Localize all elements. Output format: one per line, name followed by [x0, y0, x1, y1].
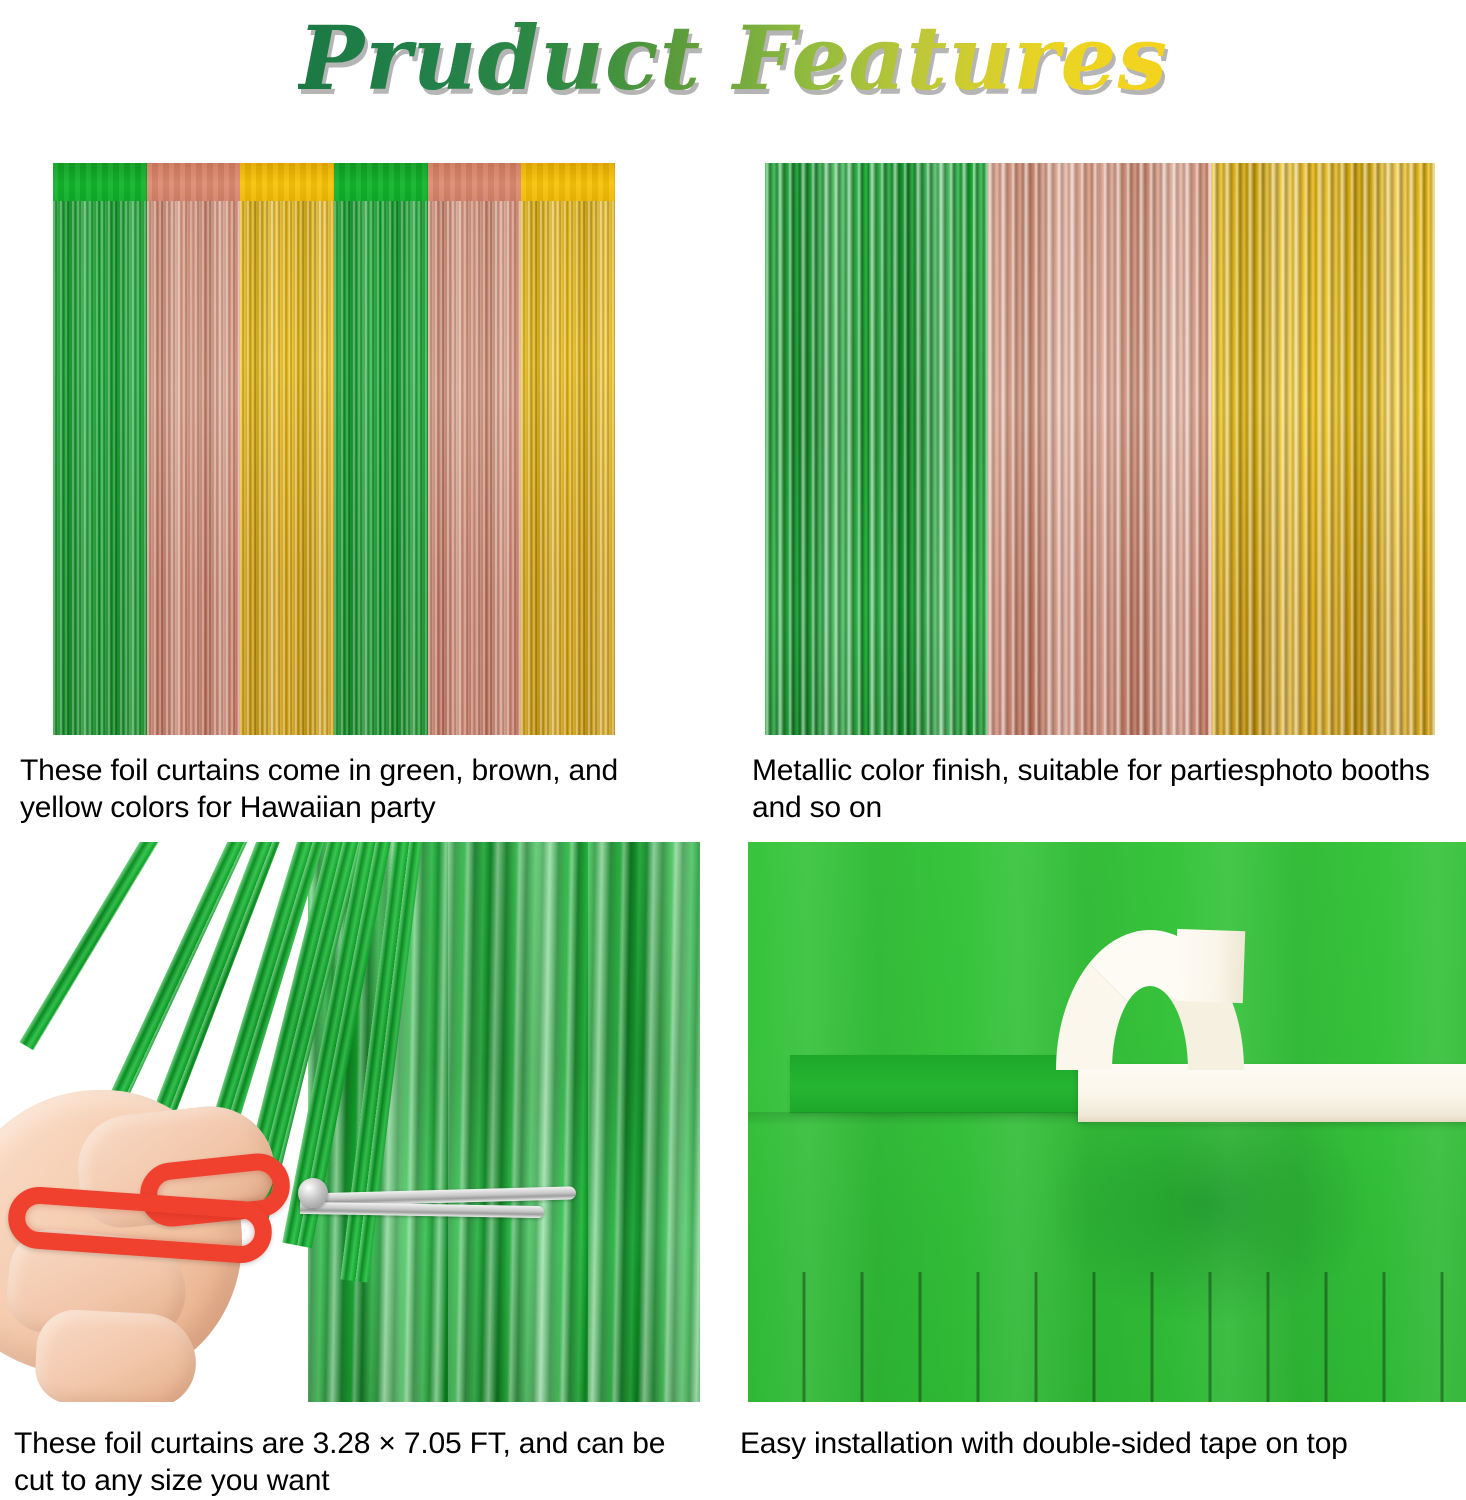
fringe-strands — [147, 163, 241, 735]
feature-image-colors — [53, 163, 615, 735]
fringe-strands — [53, 163, 147, 735]
curtain-band-green — [765, 163, 988, 735]
scissors-pivot-screw — [298, 1178, 328, 1208]
curtain-header-band — [240, 163, 334, 201]
feature-caption-cuttable-size: These foil curtains are 3.28 × 7.05 FT, … — [14, 1425, 674, 1499]
fringe-strands — [988, 163, 1211, 735]
middle-finger — [34, 1308, 199, 1402]
fringe-cut-lines — [748, 1272, 1466, 1402]
foil-curtain-striped — [53, 163, 615, 735]
fringe-strands — [240, 163, 334, 735]
feature-caption-easy-install: Easy installation with double-sided tape… — [740, 1425, 1456, 1462]
curtain-band-rose-gold-1 — [147, 163, 241, 735]
cutting-scene — [0, 842, 700, 1402]
curtain-band-yellow-2 — [521, 163, 615, 735]
fringe-strands — [334, 163, 428, 735]
curtain-band-green-1 — [53, 163, 147, 735]
curtain-header-band — [334, 163, 428, 201]
tape-installation-scene — [748, 842, 1466, 1402]
fringe-strands — [428, 163, 522, 735]
feature-image-metallic-finish — [765, 163, 1435, 735]
curtain-band-yellow — [1212, 163, 1435, 735]
foil-curtain-closeup — [765, 163, 1435, 735]
fringe-strands — [765, 163, 988, 735]
feature-caption-metallic-finish: Metallic color finish, suitable for part… — [752, 752, 1452, 826]
curtain-header-band — [428, 163, 522, 201]
curtain-header-band — [53, 163, 147, 201]
curtain-band-rose-gold-2 — [428, 163, 522, 735]
foil-streamer — [20, 842, 162, 1050]
feature-image-easy-install — [748, 842, 1466, 1402]
double-sided-tape-strip — [1078, 1064, 1466, 1122]
curtain-header-band — [521, 163, 615, 201]
tape-free-end — [1175, 929, 1245, 1003]
folded-green-strip — [790, 1055, 1090, 1113]
fold-shadow-line — [748, 1112, 1088, 1124]
feature-image-cuttable-size — [0, 842, 700, 1402]
curtain-header-band — [147, 163, 241, 201]
curtain-band-yellow-1 — [240, 163, 334, 735]
fringe-strands — [521, 163, 615, 735]
feature-caption-colors: These foil curtains come in green, brown… — [20, 752, 680, 826]
page-title-container: Pruduct Features — [0, 2, 1466, 120]
page-title: Pruduct Features — [298, 2, 1168, 114]
curtain-band-rose-gold — [988, 163, 1211, 735]
fringe-strands — [1212, 163, 1435, 735]
curtain-band-green-2 — [334, 163, 428, 735]
product-features-infographic: Pruduct Features — [0, 0, 1466, 1500]
